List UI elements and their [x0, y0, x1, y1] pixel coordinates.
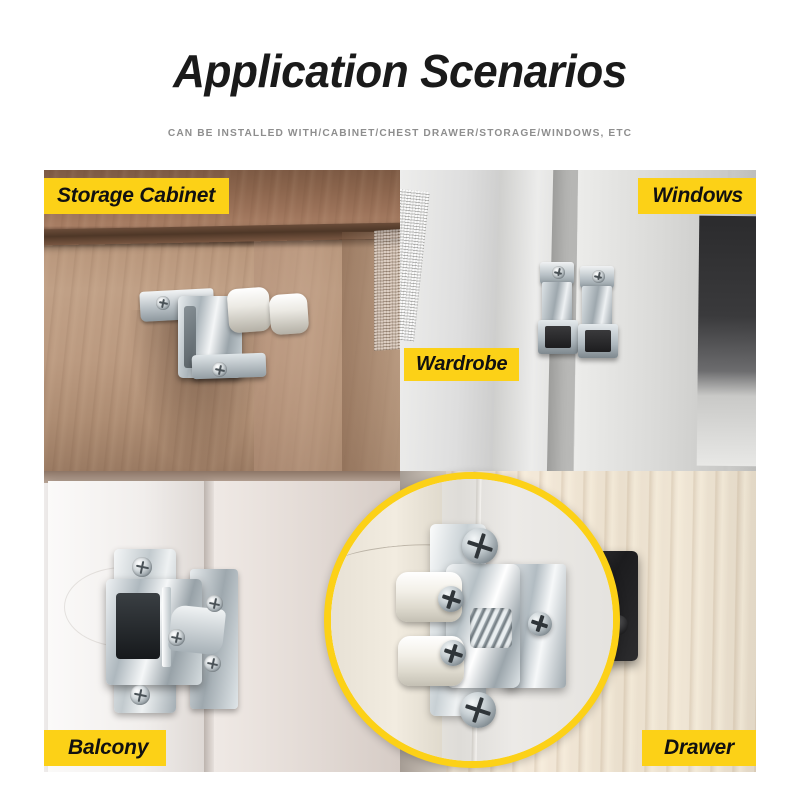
label-wardrobe: Wardrobe — [404, 348, 519, 381]
screw-icon — [460, 692, 496, 728]
label-windows: Windows — [638, 178, 756, 214]
scene-wardrobe-closeup — [324, 472, 620, 768]
balcony-roller-catch — [106, 549, 256, 719]
window-glass-pane — [697, 216, 756, 467]
catch-roller-right — [269, 293, 310, 336]
page-title: Application Scenarios — [16, 44, 784, 98]
catch-housing — [538, 320, 578, 354]
window-catch-right — [576, 266, 620, 366]
screw-icon — [156, 296, 170, 310]
cabinet-mesh-screen — [374, 229, 400, 351]
screw-icon — [440, 640, 466, 666]
chrome-roller-catch — [140, 288, 320, 384]
header: Application Scenarios CAN BE INSTALLED W… — [0, 0, 800, 160]
screw-icon — [528, 612, 552, 636]
screw-icon — [204, 655, 221, 672]
catch-slot — [116, 593, 160, 659]
label-drawer: Drawer — [642, 730, 756, 766]
label-balcony: Balcony — [44, 730, 166, 766]
photo-storage-cabinet — [44, 170, 400, 471]
page-subtitle: CAN BE INSTALLED WITH/CABINET/CHEST DRAW… — [12, 127, 788, 139]
screw-icon — [130, 685, 150, 705]
screw-icon — [206, 595, 223, 612]
scene-window-frame — [400, 170, 756, 471]
catch-roller-left — [227, 287, 272, 334]
catch-spring-arm — [582, 286, 612, 328]
screw-icon — [552, 266, 565, 279]
catch-spring-arm — [542, 282, 572, 324]
screw-icon — [438, 586, 464, 612]
catch-spring — [470, 608, 512, 648]
screw-icon — [212, 362, 227, 377]
catch-base-bracket — [192, 353, 267, 380]
label-storage-cabinet: Storage Cabinet — [44, 178, 229, 214]
screw-icon — [592, 270, 605, 283]
scene-wooden-cabinet — [44, 170, 400, 471]
infographic-page: Application Scenarios CAN BE INSTALLED W… — [0, 0, 800, 800]
magnifier-circle-wardrobe — [324, 472, 620, 768]
screw-icon — [132, 557, 152, 577]
screw-icon — [462, 528, 498, 564]
chrome-double-roller-catch-closeup — [408, 524, 598, 724]
photo-grid — [44, 170, 756, 772]
window-catch-left — [536, 262, 580, 362]
catch-housing — [578, 324, 618, 358]
screw-icon — [168, 629, 185, 646]
photo-windows — [400, 170, 756, 471]
